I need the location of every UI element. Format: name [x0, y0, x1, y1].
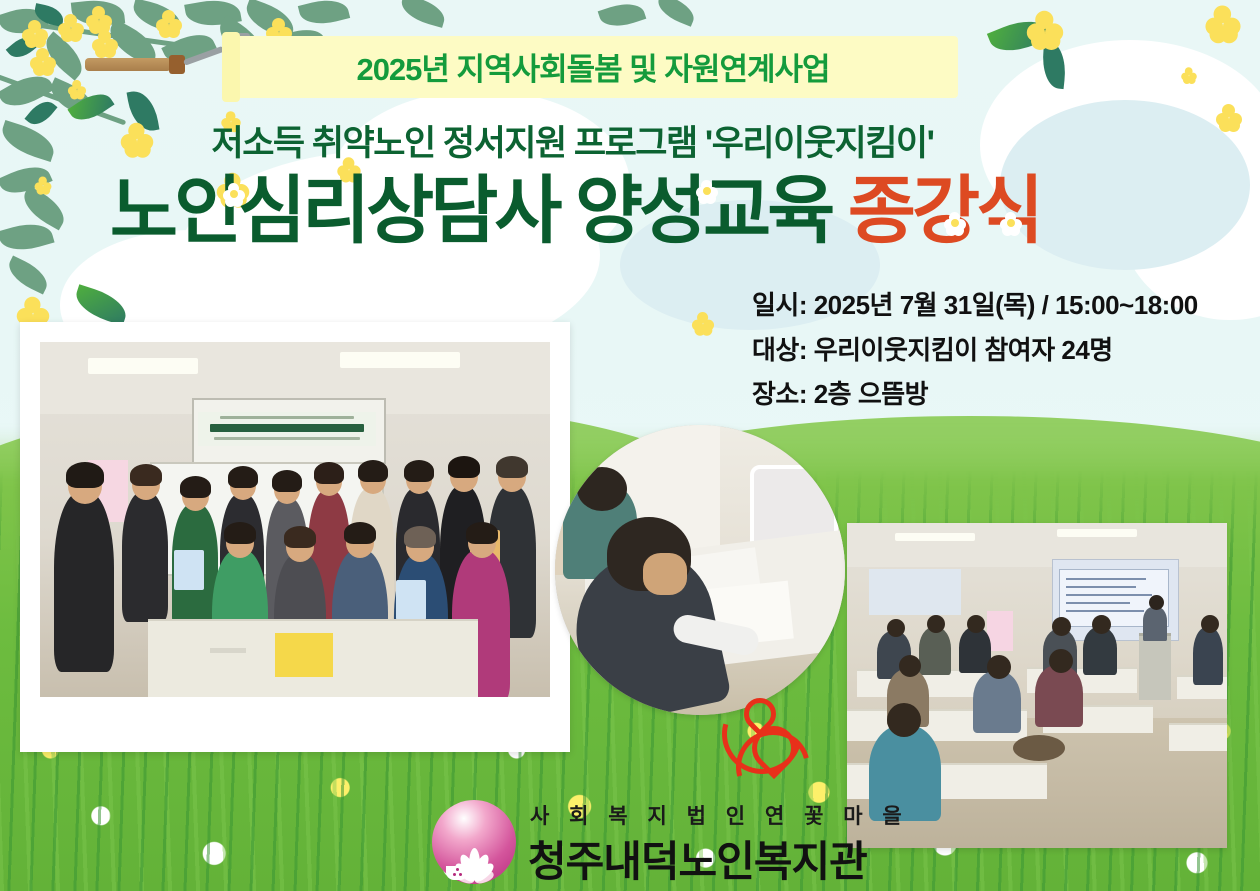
flower-icon	[86, 6, 112, 32]
paint-roller-handle-icon	[85, 58, 171, 71]
flower-icon	[58, 14, 84, 40]
title-main-text: 노인심리상담사 양성교육	[110, 169, 831, 252]
wall-notice-board	[869, 569, 961, 615]
circle-photo	[555, 425, 845, 715]
photo-person-hair	[466, 522, 498, 544]
photo-person-hair	[180, 476, 211, 498]
photo-desk	[1169, 723, 1227, 751]
poster-subtitle: 저소득 취약노인 정서지원 프로그램 '우리이웃지킴이'	[0, 115, 1145, 166]
photo-person-head	[1052, 617, 1071, 636]
photo-person-hair	[224, 522, 256, 544]
photo-person-hair	[272, 470, 302, 492]
photo-person-hair	[314, 462, 344, 484]
info-target-line: 대상: 우리이웃지킴이 참여자 24명	[752, 328, 1252, 373]
ceiling-light	[340, 352, 460, 368]
photo-person-head	[643, 553, 687, 595]
photo-person-head	[887, 703, 921, 737]
event-banner-on-screen	[198, 412, 376, 446]
photo-pen	[210, 648, 246, 653]
ceiling-light	[895, 533, 975, 541]
org-parent-name: 사 회 복 지 법 인 연 꽃 마 을	[530, 800, 909, 830]
photo-person-head	[1092, 615, 1111, 634]
photo-person-head	[967, 615, 985, 633]
photo-hat	[1013, 735, 1065, 761]
photo-person	[919, 627, 951, 675]
photo-person-hair	[284, 526, 316, 548]
lotus-dots-icon	[453, 868, 463, 877]
photo-person-hair	[358, 460, 388, 482]
photo-person-hair	[228, 466, 258, 488]
group-photo	[40, 342, 550, 697]
photo-person	[1035, 665, 1083, 727]
organization-logo: 사 회 복 지 법 인 연 꽃 마 을 청주내덕노인복지관	[432, 796, 852, 888]
podium	[1139, 633, 1171, 700]
photo-booklet	[396, 580, 426, 620]
flower-icon	[30, 48, 56, 74]
photo-person	[1083, 627, 1117, 675]
lotus-logo-icon	[432, 800, 516, 884]
info-date-line: 일시: 2025년 7월 31일(목) / 15:00~18:00	[752, 283, 1252, 328]
photo-person-hair	[404, 526, 436, 548]
photo-person	[54, 492, 114, 672]
flower-icon	[22, 20, 48, 46]
org-name: 청주내덕노인복지관	[528, 828, 867, 889]
flower-icon	[156, 10, 182, 36]
page-title: 노인심리상담사 양성교육 종강식	[0, 168, 1150, 253]
banner-label: 2025년 지역사회돌봄 및 자원연계사업	[228, 44, 958, 89]
photo-person-hair	[130, 464, 162, 486]
photo-person	[973, 671, 1021, 733]
photo-person-hair	[344, 522, 376, 544]
flower-icon	[1027, 11, 1063, 47]
poster-root: 2025년 지역사회돌봄 및 자원연계사업 저소득 취약노인 정서지원 프로그램…	[0, 0, 1260, 891]
photo-person-head	[577, 467, 627, 511]
flower-icon	[1205, 5, 1240, 40]
photo-person-head	[899, 655, 921, 677]
photo-folder	[275, 633, 333, 677]
photo-person-head	[987, 655, 1011, 679]
photo-person-hair	[66, 462, 104, 488]
photo-person	[122, 492, 168, 622]
flower-icon	[1181, 67, 1197, 83]
photo-person-hair	[496, 456, 528, 478]
title-accent-text: 종강식	[848, 169, 1040, 252]
photo-person-hair	[404, 460, 434, 482]
photo-person-hair	[448, 456, 480, 478]
photo-booklet	[174, 550, 204, 590]
ceiling-light	[88, 358, 198, 374]
photo-person	[1143, 607, 1167, 641]
photo-person-head	[887, 619, 905, 637]
paint-roller-grip-icon	[169, 55, 185, 74]
info-place-line: 장소: 2층 으뜸방	[752, 372, 1252, 417]
photo-person-head	[1149, 595, 1164, 610]
photo-person-head	[1201, 615, 1219, 633]
ceiling-light	[1057, 529, 1137, 537]
group-photo-frame	[20, 322, 570, 752]
photo-person	[1193, 627, 1223, 685]
flower-icon	[1216, 104, 1242, 130]
flower-icon	[68, 80, 86, 98]
flower-icon	[692, 312, 714, 334]
photo-person-head	[1049, 649, 1073, 673]
photo-person-head	[927, 615, 945, 633]
event-info-block: 일시: 2025년 7월 31일(목) / 15:00~18:00 대상: 우리…	[752, 283, 1252, 417]
